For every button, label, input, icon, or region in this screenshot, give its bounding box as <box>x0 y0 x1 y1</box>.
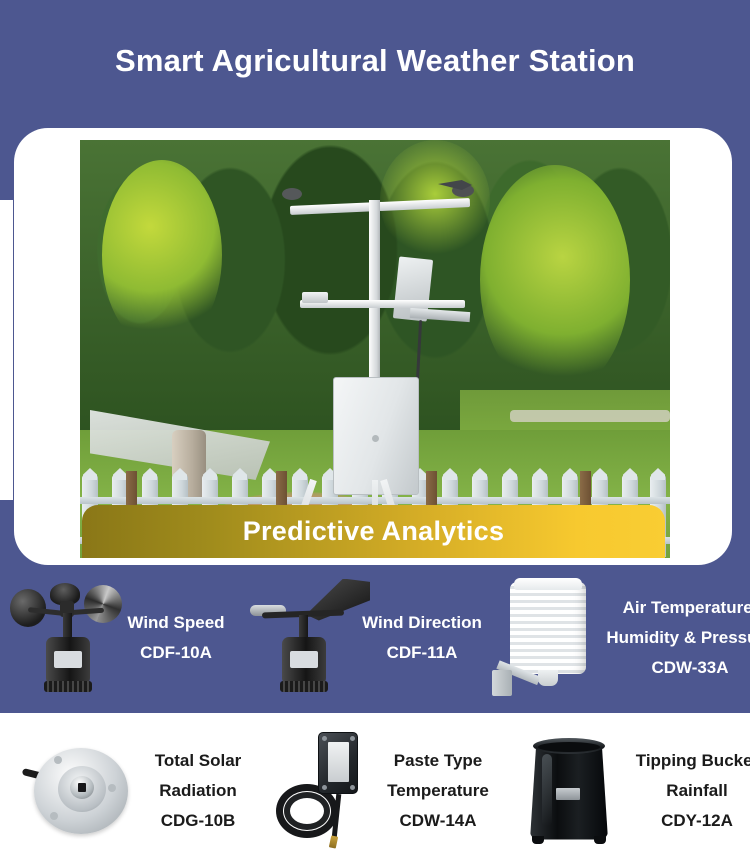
product-air-temperature-humidity-pressure[interactable]: Air Temperature, Humidity & Pressure CDW… <box>492 578 750 698</box>
product-name-line: Wind Direction <box>362 608 482 638</box>
predictive-analytics-banner: Predictive Analytics <box>82 505 665 558</box>
product-label-rainfall: Tipping Bucket Rainfall CDY-12A <box>622 746 750 836</box>
product-name-line: Total Solar <box>138 746 258 776</box>
photo-path <box>510 410 670 422</box>
wind-vane-icon <box>244 579 370 697</box>
page-title: Smart Agricultural Weather Station <box>0 42 750 80</box>
product-name-line: Temperature <box>372 776 504 806</box>
product-name-line: Wind Speed <box>122 608 230 638</box>
tipping-bucket-rain-gauge-icon <box>516 732 622 850</box>
product-label-air-sensor: Air Temperature, Humidity & Pressure CDW… <box>602 593 750 683</box>
photo-shield-sensor <box>302 292 328 303</box>
product-paste-type-temperature[interactable]: Paste Type Temperature CDW-14A <box>272 732 504 850</box>
predictive-analytics-label: Predictive Analytics <box>243 516 505 547</box>
product-name-line: Paste Type <box>372 746 504 776</box>
product-row-bottom: Total Solar Radiation CDG-10B Paste Type… <box>0 728 750 853</box>
product-name-line: Humidity & Pressure <box>602 623 750 653</box>
product-model: CDF-10A <box>122 638 230 668</box>
product-model: CDW-33A <box>602 653 750 683</box>
product-name-line: Air Temperature, <box>602 593 750 623</box>
product-name-line: Tipping Bucket <box>622 746 750 776</box>
product-model: CDF-11A <box>362 638 482 668</box>
left-edge-strip <box>0 200 13 500</box>
product-label-wind-direction: Wind Direction CDF-11A <box>362 608 482 668</box>
product-total-solar-radiation[interactable]: Total Solar Radiation CDG-10B <box>22 738 258 844</box>
hero-panel: Smart Agricultural Weather Station <box>0 0 750 713</box>
weather-station-photo <box>80 140 670 558</box>
product-model: CDY-12A <box>622 806 750 836</box>
product-name-line: Radiation <box>138 776 258 806</box>
product-row-top: Wind Speed CDF-10A Wind Direction CDF-11… <box>0 570 750 705</box>
product-name-line: Rainfall <box>622 776 750 806</box>
product-model: CDW-14A <box>372 806 504 836</box>
product-label-wind-speed: Wind Speed CDF-10A <box>122 608 230 668</box>
product-model: CDG-10B <box>138 806 258 836</box>
product-wind-direction[interactable]: Wind Direction CDF-11A <box>244 579 482 697</box>
product-label-paste-temperature: Paste Type Temperature CDW-14A <box>372 746 504 836</box>
product-wind-speed[interactable]: Wind Speed CDF-10A <box>10 579 230 697</box>
product-label-solar-radiation: Total Solar Radiation CDG-10B <box>138 746 258 836</box>
anemometer-icon <box>10 579 122 697</box>
photo-enclosure-latch <box>372 435 379 442</box>
product-tipping-bucket-rainfall[interactable]: Tipping Bucket Rainfall CDY-12A <box>516 732 750 850</box>
photo-sensor-left <box>282 188 302 200</box>
radiation-shield-icon <box>492 578 602 698</box>
photo-foliage-right <box>480 165 630 395</box>
pyranometer-icon <box>22 738 138 844</box>
paste-temperature-sensor-icon <box>272 732 380 850</box>
photo-foliage-left <box>102 160 222 350</box>
